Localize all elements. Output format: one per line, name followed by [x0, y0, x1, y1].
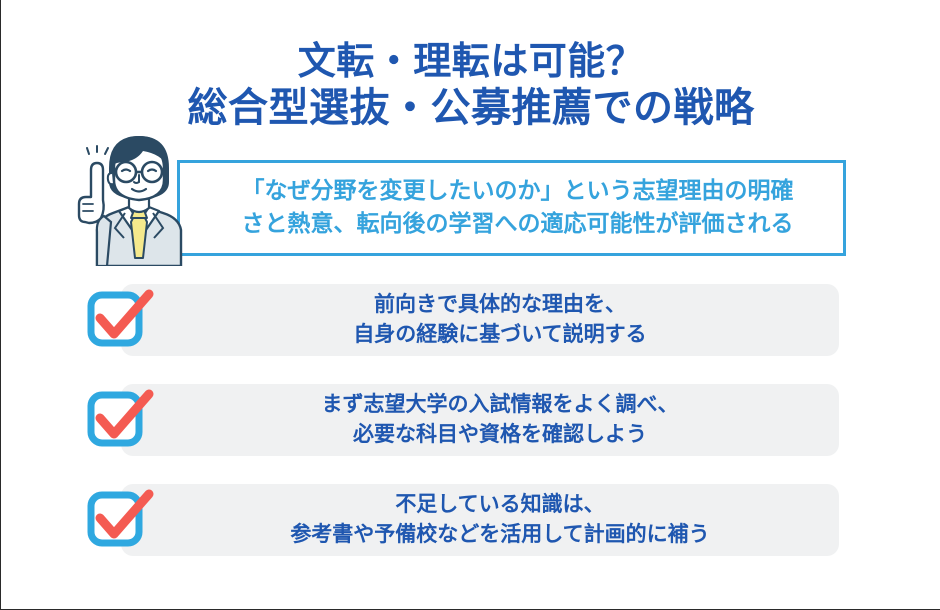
checkbox-checked-icon — [87, 288, 157, 352]
list-item-line-1: 前向きで具体的な理由を、 — [374, 290, 626, 320]
infographic-slide: 文転・理転は可能？ 総合型選抜・公募推薦での戦略 — [1, 0, 940, 610]
list-item-line-2: 参考書や予備校などを活用して計画的に補う — [290, 520, 709, 550]
list-item-line-2: 必要な科目や資格を確認しよう — [353, 420, 647, 450]
checkbox-checked-icon — [87, 388, 157, 452]
list-item: 不足している知識は、 参考書や予備校などを活用して計画的に補う — [1, 484, 940, 556]
list-item-line-1: まず志望大学の入試情報をよく調べ、 — [322, 390, 679, 420]
list-item-text: 不足している知識は、 参考書や予備校などを活用して計画的に補う — [161, 484, 839, 556]
list-item-text: まず志望大学の入試情報をよく調べ、 必要な科目や資格を確認しよう — [161, 384, 839, 456]
pointing-man-illustration — [67, 118, 207, 266]
list-item-text: 前向きで具体的な理由を、 自身の経験に基づいて説明する — [161, 284, 839, 356]
callout-text: 「なぜ分野を変更したいのか」という志望理由の明確 さと熱意、転向後の学習への適応… — [242, 175, 794, 240]
highlight-callout-box: 「なぜ分野を変更したいのか」という志望理由の明確 さと熱意、転向後の学習への適応… — [177, 160, 846, 256]
checkbox-checked-icon — [87, 488, 157, 552]
checklist: 前向きで具体的な理由を、 自身の経験に基づいて説明する まず志望大学の入試情報を… — [1, 284, 940, 584]
callout-line-2: さと熱意、転向後の学習への適応可能性が評価される — [242, 208, 794, 241]
list-item-line-2: 自身の経験に基づいて説明する — [353, 320, 646, 350]
callout-line-1: 「なぜ分野を変更したいのか」という志望理由の明確 — [242, 175, 794, 208]
title-line-1: 文転・理転は可能？ — [1, 38, 940, 84]
list-item: 前向きで具体的な理由を、 自身の経験に基づいて説明する — [1, 284, 940, 356]
list-item-line-1: 不足している知識は、 — [395, 490, 604, 520]
list-item: まず志望大学の入試情報をよく調べ、 必要な科目や資格を確認しよう — [1, 384, 940, 456]
